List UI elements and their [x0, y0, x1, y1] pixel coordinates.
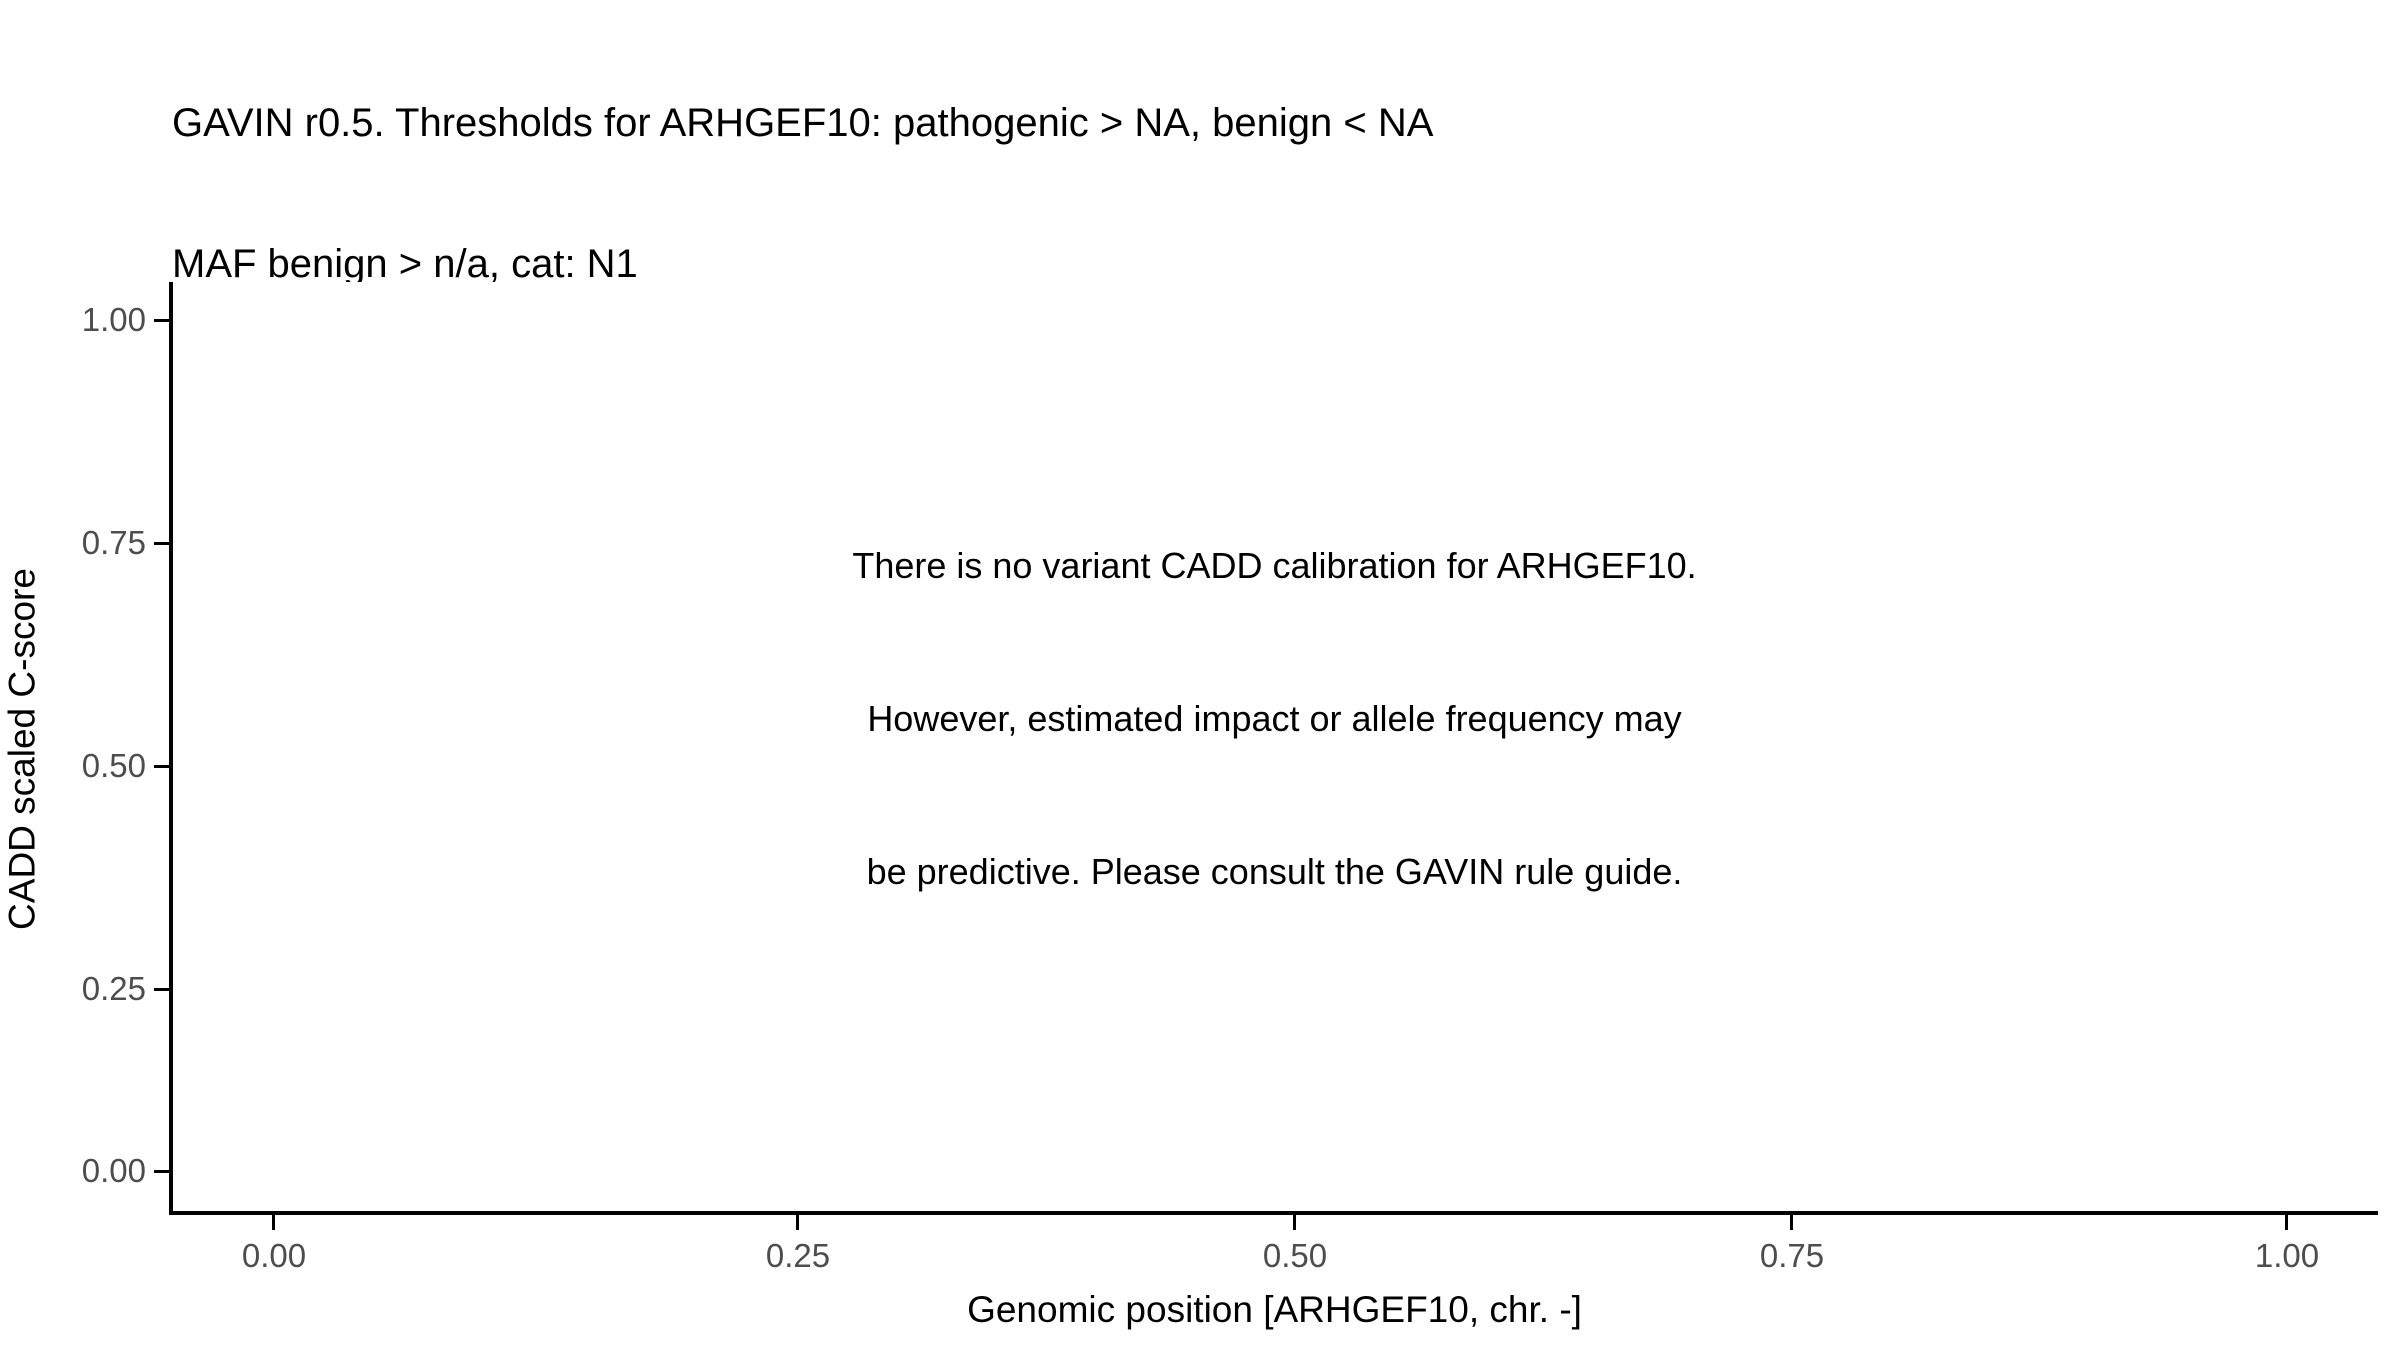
y-tick-mark-0.00 [154, 1170, 169, 1173]
x-tick-label-0.25: 0.25 [698, 1239, 898, 1272]
y-tick-mark-0.25 [154, 988, 169, 991]
annotation-line-1: There is no variant CADD calibration for… [171, 540, 2378, 591]
plot-title-line-2: MAF benign > n/a, cat: N1 [172, 241, 2272, 288]
y-tick-mark-1.00 [154, 319, 169, 322]
x-axis-title: Genomic position [ARHGEF10, chr. -] [171, 1288, 2378, 1332]
gavin-threshold-plot: GAVIN r0.5. Thresholds for ARHGEF10: pat… [0, 0, 2400, 1350]
y-axis-title: CADD scaled C-score [1, 284, 45, 1215]
x-tick-mark-1.00 [2285, 1215, 2288, 1230]
x-tick-label-0.75: 0.75 [1692, 1239, 1892, 1272]
no-calibration-annotation: There is no variant CADD calibration for… [171, 438, 2378, 999]
x-tick-mark-0.00 [272, 1215, 275, 1230]
x-tick-label-0.50: 0.50 [1195, 1239, 1395, 1272]
annotation-line-2: However, estimated impact or allele freq… [171, 693, 2378, 744]
x-tick-mark-0.75 [1790, 1215, 1793, 1230]
y-tick-mark-0.50 [154, 765, 169, 768]
plot-title-line-1: GAVIN r0.5. Thresholds for ARHGEF10: pat… [172, 100, 2272, 147]
x-tick-mark-0.50 [1293, 1215, 1296, 1230]
x-tick-mark-0.25 [796, 1215, 799, 1230]
annotation-line-3: be predictive. Please consult the GAVIN … [171, 846, 2378, 897]
y-tick-mark-0.75 [154, 542, 169, 545]
x-tick-label-1.00: 1.00 [2187, 1239, 2387, 1272]
x-axis-line [169, 1211, 2378, 1215]
x-tick-label-0.00: 0.00 [174, 1239, 374, 1272]
